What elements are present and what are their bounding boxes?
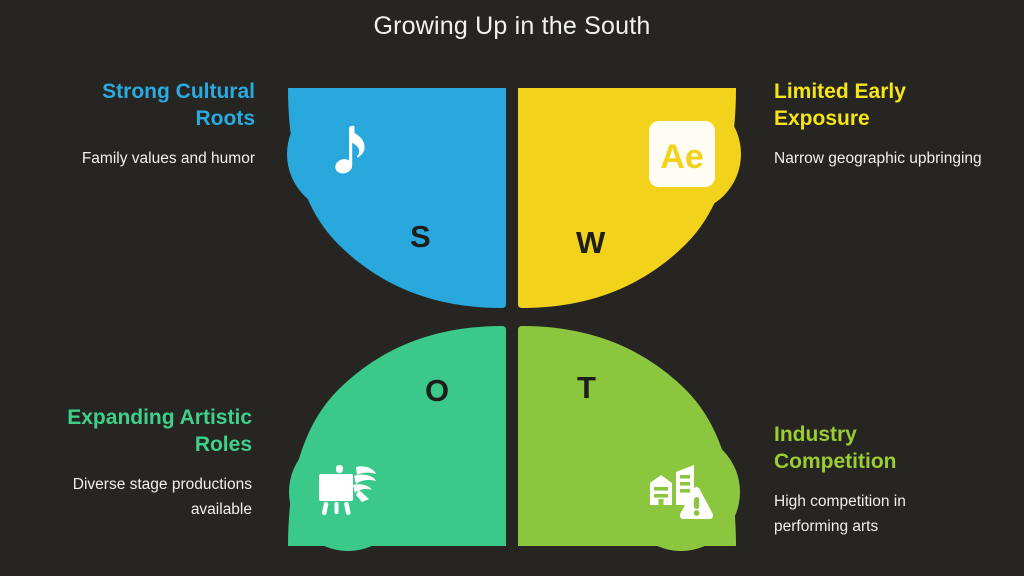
page-title: Growing Up in the South bbox=[0, 9, 1024, 43]
text-block-strengths: Strong Cultural Roots Family values and … bbox=[45, 78, 255, 171]
body-threats: High competition in performing arts bbox=[774, 489, 984, 539]
quadrant-letter-t: T bbox=[577, 372, 596, 403]
after-effects-icon: Ae bbox=[649, 121, 715, 187]
text-block-opportunities: Expanding Artistic Roles Diverse stage p… bbox=[42, 404, 252, 522]
slide-canvas: Growing Up in the South S W O T bbox=[0, 0, 1024, 576]
body-weaknesses: Narrow geographic upbringing bbox=[774, 146, 984, 171]
heading-strengths: Strong Cultural Roots bbox=[45, 78, 255, 132]
easel-paint-icon bbox=[316, 461, 380, 523]
badge-weaknesses[interactable]: Ae bbox=[623, 95, 741, 213]
quadrant-letter-o: O bbox=[425, 375, 449, 406]
quadrant-letter-w: W bbox=[576, 227, 605, 258]
badge-opportunities[interactable] bbox=[289, 433, 407, 551]
badge-threats[interactable] bbox=[622, 433, 740, 551]
buildings-warning-icon bbox=[648, 461, 714, 523]
music-note-icon bbox=[318, 124, 374, 184]
badge-strengths[interactable] bbox=[287, 95, 405, 213]
heading-opportunities: Expanding Artistic Roles bbox=[42, 404, 252, 458]
text-block-threats: Industry Competition High competition in… bbox=[774, 421, 984, 539]
swot-diagram: S W O T Ae bbox=[282, 82, 742, 552]
after-effects-icon-label: Ae bbox=[660, 138, 703, 176]
heading-threats: Industry Competition bbox=[774, 421, 984, 475]
quadrant-letter-s: S bbox=[410, 221, 431, 252]
body-strengths: Family values and humor bbox=[45, 146, 255, 171]
body-opportunities: Diverse stage productions available bbox=[42, 472, 252, 522]
heading-weaknesses: Limited Early Exposure bbox=[774, 78, 984, 132]
text-block-weaknesses: Limited Early Exposure Narrow geographic… bbox=[774, 78, 984, 171]
